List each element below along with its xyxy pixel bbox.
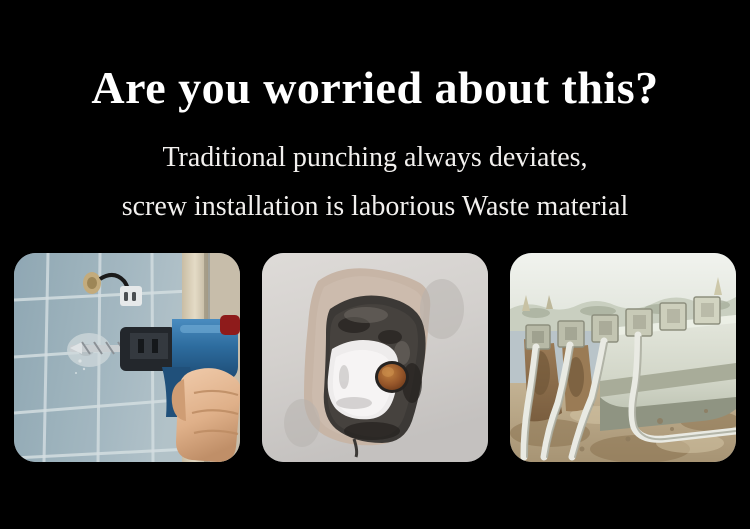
subtitle-line-1: Traditional punching always deviates, <box>0 141 750 175</box>
promo-banner: Are you worried about this? Traditional … <box>0 0 750 529</box>
drilling-tile-wall-illustration <box>14 253 240 462</box>
subtitle-line-2: screw installation is laborious Waste ma… <box>0 190 750 224</box>
page-title: Are you worried about this? <box>0 62 750 114</box>
conduit-pipes-clamps-photo <box>510 253 736 462</box>
damaged-wall-patch-photo <box>262 253 488 462</box>
drilling-tile-wall-photo <box>14 253 240 462</box>
damaged-wall-illustration <box>262 253 488 462</box>
conduit-pipes-illustration <box>510 253 736 462</box>
photo-gallery <box>14 253 736 462</box>
